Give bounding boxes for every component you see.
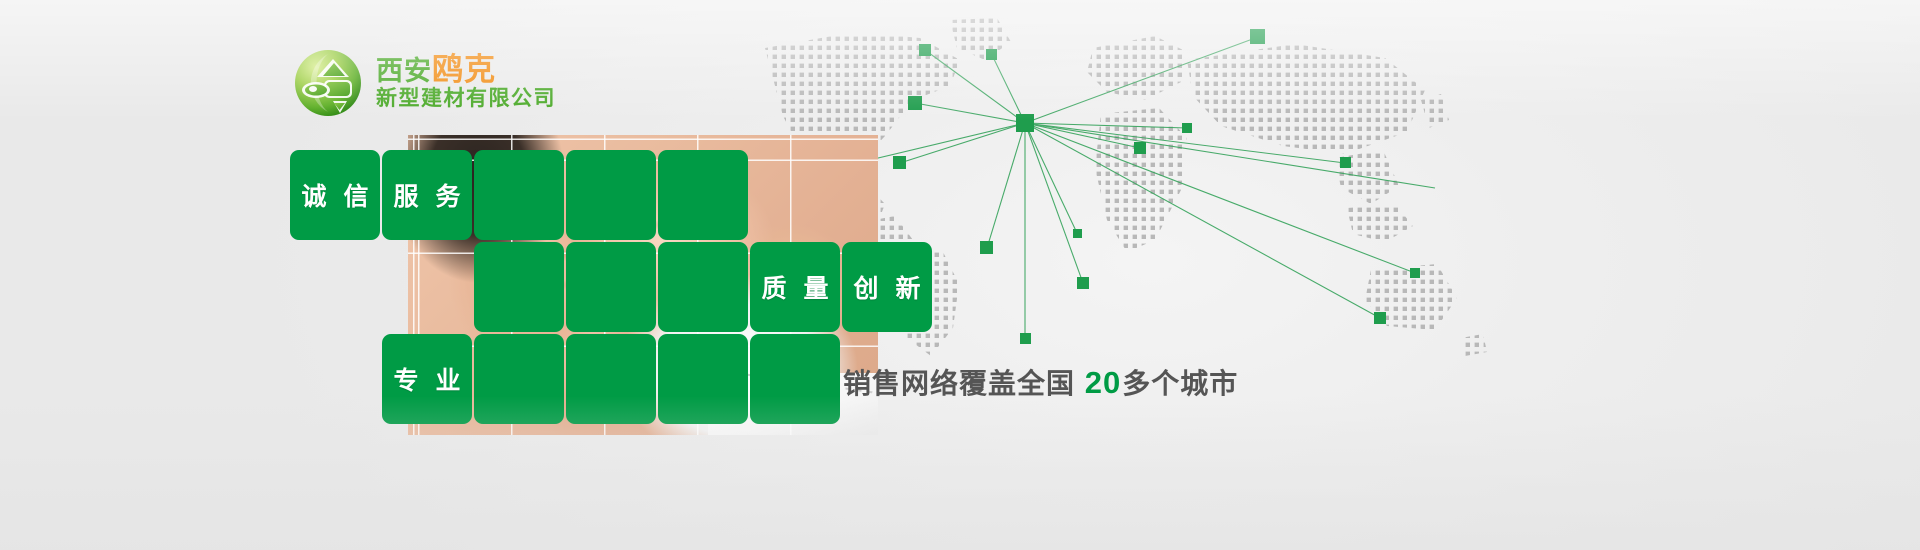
tile-blank[interactable] [658,334,748,424]
tile-blank[interactable] [658,242,748,332]
map-node [1410,268,1420,278]
green-globe-logo-icon [292,47,364,119]
map-node [1374,312,1386,324]
tile-label: 诚 信 [297,177,374,213]
tile-blank[interactable] [474,150,564,240]
map-node [1250,29,1265,44]
logo-city: 西安 [376,56,432,86]
map-node [1020,333,1031,344]
sales-network-tagline: 销售网络覆盖全国 20多个城市 [843,362,1238,402]
tile-blank[interactable] [566,334,656,424]
map-node [1340,157,1351,168]
map-node [1182,123,1192,133]
map-node [986,49,997,60]
tile-label: 质 量 [757,269,834,305]
tile-blank[interactable] [750,334,840,424]
map-node [908,96,922,110]
tile-blank[interactable] [566,242,656,332]
logo-brand: 鸥克 [432,52,496,87]
tile-fuwu[interactable]: 服 务 [382,150,472,240]
map-node [919,44,931,56]
tile-chuangxin[interactable]: 创 新 [842,242,932,332]
tile-blank[interactable] [658,150,748,240]
logo-wordmark: 西安鸥克 新型建材有限公司 [376,55,556,112]
tile-label: 服 务 [389,177,466,213]
map-node [1077,277,1089,289]
map-node-hub [1016,114,1034,132]
tile-label: 创 新 [849,269,926,305]
tile-blank[interactable] [474,334,564,424]
tile-chengxin[interactable]: 诚 信 [290,150,380,240]
tile-blank[interactable] [474,242,564,332]
tile-mosaic: 诚 信 服 务 质 量 创 新 专 业 [290,140,908,420]
tagline-suffix: 多个城市 [1122,368,1238,399]
map-node [980,241,993,254]
tagline-city-count: 20 [1084,365,1122,400]
logo-company-suffix: 新型建材有限公司 [376,86,556,112]
tile-zhiliang[interactable]: 质 量 [750,242,840,332]
promo-banner: 西安鸥克 新型建材有限公司 诚 信 服 务 质 量 [0,0,1920,550]
tagline-prefix: 销售网络覆盖全国 [843,368,1084,399]
company-logo[interactable]: 西安鸥克 新型建材有限公司 [292,47,556,119]
logo-name-line: 西安鸥克 [376,55,556,86]
map-node [1073,229,1082,238]
map-node [1134,142,1146,154]
tile-blank[interactable] [566,150,656,240]
tile-zhuanye[interactable]: 专 业 [382,334,472,424]
tile-label: 专 业 [389,361,466,397]
